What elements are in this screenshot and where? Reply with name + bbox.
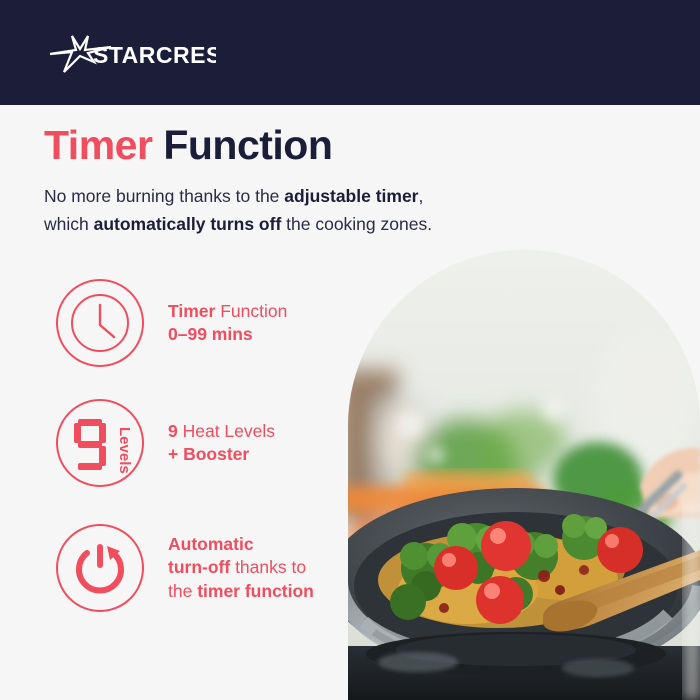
page-title-dark: Function <box>163 122 332 168</box>
feature-timer: Timer Function 0–99 mins <box>56 279 287 367</box>
feature-auto-turn-off: Automatic turn-off thanks to the timer f… <box>56 524 314 612</box>
feature-auto-off-text: Automatic turn-off thanks to the timer f… <box>168 533 314 603</box>
feature-heat-levels: Levels 9 Heat Levels + Booster <box>56 399 275 487</box>
feature-timer-line1-reg: Function <box>215 301 287 321</box>
subtitle-line2-pre: which <box>44 214 94 234</box>
feature-heat-line2-bold: + Booster <box>168 444 249 464</box>
feature-auto-line2-reg: thanks to <box>230 557 306 577</box>
power-auto-off-icon <box>56 524 144 612</box>
page-title-accent: Timer <box>44 122 152 168</box>
cooking-photo-image <box>348 250 700 700</box>
star-outline-icon: STARCREST <box>36 28 216 78</box>
brand-logo: STARCREST <box>36 28 216 78</box>
feature-timer-line2-bold: 0–99 mins <box>168 324 253 344</box>
feature-auto-line3-bold: timer function <box>197 581 314 601</box>
subtitle-line1-pre: No more burning thanks to the <box>44 186 284 206</box>
infographic-page: STARCREST Timer Function No more burning… <box>0 0 700 700</box>
clock-icon <box>56 279 144 367</box>
feature-heat-levels-text: 9 Heat Levels + Booster <box>168 420 275 467</box>
subtitle-line2-post: the cooking zones. <box>281 214 432 234</box>
page-subtitle: No more burning thanks to the adjustable… <box>44 182 544 239</box>
subtitle-line1-post: , <box>419 186 424 206</box>
heat-levels-icon-label: Levels <box>116 427 133 474</box>
subtitle-line1-bold: adjustable timer <box>284 186 418 206</box>
feature-heat-line1-reg: Heat Levels <box>178 421 275 441</box>
feature-auto-line3-reg: the <box>168 581 197 601</box>
page-title: Timer Function <box>44 124 332 167</box>
feature-timer-text: Timer Function 0–99 mins <box>168 300 287 347</box>
cooking-photo <box>348 250 700 700</box>
subtitle-line2-bold: automatically turns off <box>94 214 282 234</box>
feature-heat-line1-bold: 9 <box>168 421 178 441</box>
feature-auto-line2-bold: turn-off <box>168 557 230 577</box>
brand-wordmark: STARCREST <box>93 42 216 68</box>
feature-auto-line1-bold: Automatic <box>168 534 254 554</box>
nine-heat-levels-icon: Levels <box>56 399 144 487</box>
feature-timer-line1-bold: Timer <box>168 301 215 321</box>
header-band: STARCREST <box>0 0 700 105</box>
